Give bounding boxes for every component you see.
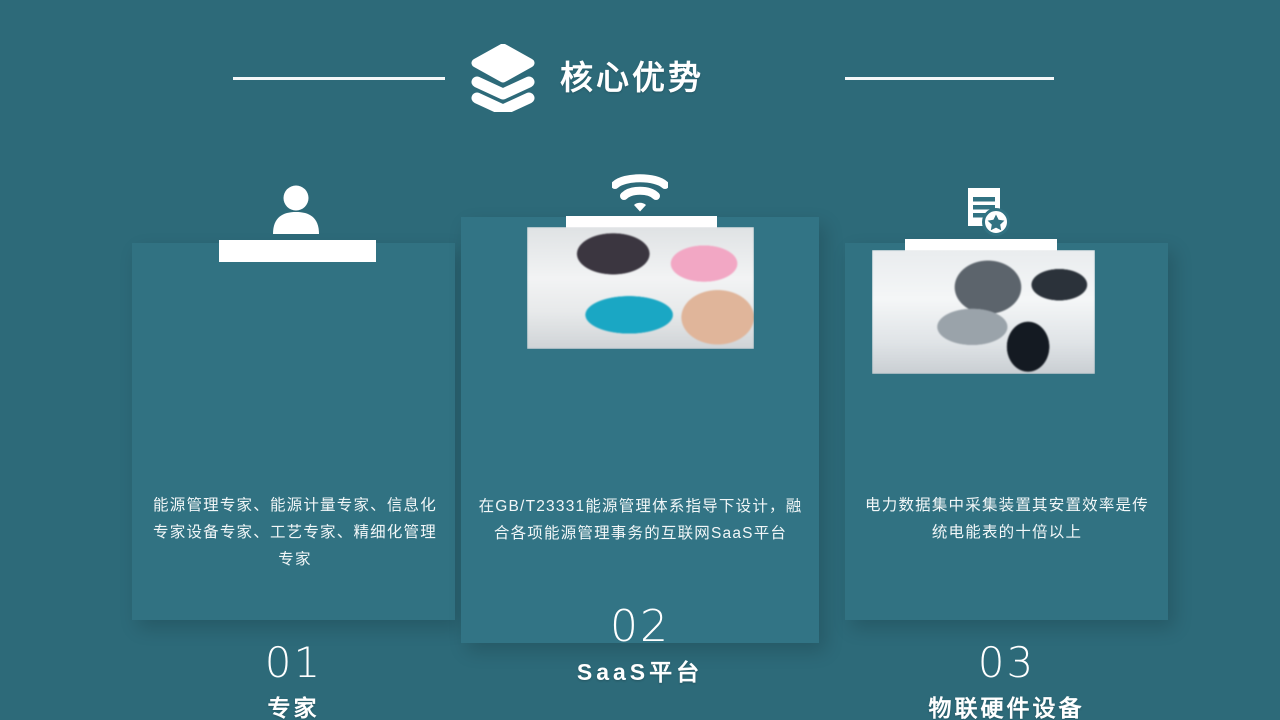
card-title: SaaS平台 bbox=[461, 657, 819, 687]
card-title: 专家 bbox=[132, 693, 455, 720]
header-rule-right bbox=[845, 77, 1054, 80]
person-icon bbox=[269, 184, 323, 234]
meeting-tablet-photo bbox=[527, 227, 754, 349]
card-title: 物联硬件设备 bbox=[845, 693, 1168, 720]
layers-stack-icon bbox=[468, 44, 538, 112]
slide-header: 核心优势 bbox=[0, 0, 1280, 160]
certificate-star-icon bbox=[958, 186, 1010, 236]
wifi-icon bbox=[612, 172, 668, 214]
card-number: 01 bbox=[132, 638, 455, 688]
laptop-desk-photo bbox=[872, 250, 1095, 374]
library-bookshelf-photo bbox=[181, 250, 412, 374]
card-body-text: 在GB/T23331能源管理体系指导下设计，融合各项能源管理事务的互联网SaaS… bbox=[478, 493, 803, 547]
card-body-text: 能源管理专家、能源计量专家、信息化专家设备专家、工艺专家、精细化管理专家 bbox=[150, 492, 440, 573]
page-title: 核心优势 bbox=[560, 52, 880, 104]
card-number: 03 bbox=[845, 638, 1168, 688]
card-body-text: 电力数据集中采集装置其安置效率是传统电能表的十倍以上 bbox=[862, 492, 1152, 546]
card-number: 02 bbox=[461, 602, 819, 652]
header-rule-left bbox=[233, 77, 445, 80]
